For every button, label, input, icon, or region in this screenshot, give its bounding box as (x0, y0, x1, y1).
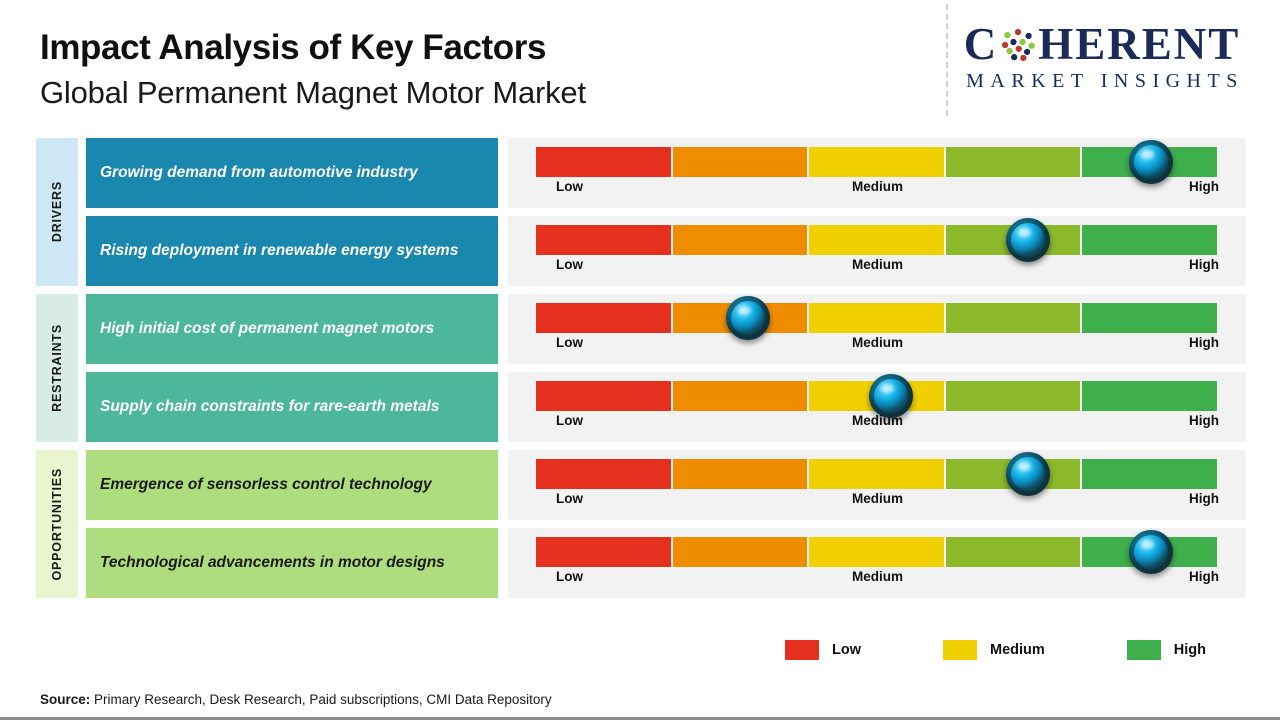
scale-label-medium: Medium (852, 569, 903, 584)
table-row: Growing demand from automotive industry (78, 138, 1280, 208)
category-label-restraints: RESTRAINTS (36, 294, 78, 442)
group-rows-restraints: High initial cost of permanent magnet mo… (78, 294, 1280, 442)
gauge-segment-low (536, 459, 673, 489)
factor-label: Supply chain constraints for rare-earth … (100, 397, 439, 418)
slide-header: Impact Analysis of Key Factors Global Pe… (0, 0, 1280, 132)
gauge-bar (536, 303, 1219, 333)
impact-analysis-slide: Impact Analysis of Key Factors Global Pe… (0, 0, 1280, 720)
gauge-segment-medium (809, 303, 946, 333)
gauge-segment-low (536, 147, 673, 177)
group-rows-opportunities: Emergence of sensorless control technolo… (78, 450, 1280, 598)
legend-label-high: High (1174, 642, 1206, 658)
gauge-segment-medium (809, 537, 946, 567)
gauge-bar (536, 147, 1219, 177)
group-restraints: RESTRAINTS High initial cost of permanen… (0, 294, 1280, 442)
gauge-bar (536, 225, 1219, 255)
page-title: Impact Analysis of Key Factors (40, 28, 586, 68)
scale-label-medium: Medium (852, 413, 903, 428)
factor-box[interactable]: Growing demand from automotive industry (86, 138, 498, 208)
factor-box[interactable]: Rising deployment in renewable energy sy… (86, 216, 498, 286)
impact-matrix: DRIVERS Growing demand from automotive i… (0, 138, 1280, 606)
scale-label-high: High (1189, 335, 1219, 350)
scale-label-high: High (1189, 569, 1219, 584)
gauge-scale: Low Medium High (536, 177, 1219, 199)
gauge-bar (536, 459, 1219, 489)
category-label-drivers: DRIVERS (36, 138, 78, 286)
legend-swatch-medium (943, 640, 977, 660)
factor-label: High initial cost of permanent magnet mo… (100, 319, 434, 340)
scale-label-medium: Medium (852, 179, 903, 194)
scale-label-low: Low (556, 335, 583, 350)
factor-box[interactable]: Technological advancements in motor desi… (86, 528, 498, 598)
table-row: Rising deployment in renewable energy sy… (78, 216, 1280, 286)
factor-label: Growing demand from automotive industry (100, 163, 418, 184)
scale-label-high: High (1189, 257, 1219, 272)
gauge-segment-high (1082, 459, 1219, 489)
impact-gauge[interactable]: Low Medium High (508, 528, 1246, 598)
legend-item-high: High (1127, 640, 1206, 660)
scale-label-low: Low (556, 413, 583, 428)
logo-wordmark-rest: HERENT (1038, 22, 1240, 67)
table-row: High initial cost of permanent magnet mo… (78, 294, 1280, 364)
legend-item-medium: Medium (943, 640, 1045, 660)
impact-gauge[interactable]: Low Medium High (508, 138, 1246, 208)
chart-legend: Low Medium High (0, 640, 1280, 660)
logo-wordmark: C HERENT (942, 22, 1262, 67)
scale-label-low: Low (556, 569, 583, 584)
gauge-segment-low-medium (673, 225, 810, 255)
gauge-segment-low-medium (673, 381, 810, 411)
factor-label: Technological advancements in motor desi… (100, 553, 445, 574)
gauge-segment-low (536, 381, 673, 411)
table-row: Supply chain constraints for rare-earth … (78, 372, 1280, 442)
group-drivers: DRIVERS Growing demand from automotive i… (0, 138, 1280, 286)
impact-gauge[interactable]: Low Medium High (508, 372, 1246, 442)
table-row: Emergence of sensorless control technolo… (78, 450, 1280, 520)
page-subtitle: Global Permanent Magnet Motor Market (40, 74, 586, 111)
category-label-text: RESTRAINTS (50, 324, 64, 412)
gauge-segment-high (1082, 303, 1219, 333)
gauge-segment-medium (809, 225, 946, 255)
gauge-scale: Low Medium High (536, 567, 1219, 589)
scale-label-high: High (1189, 413, 1219, 428)
group-opportunities: OPPORTUNITIES Emergence of sensorless co… (0, 450, 1280, 598)
coherent-market-insights-logo: C HERENT MARKET INSIGHTS (942, 22, 1262, 91)
gauge-bar (536, 537, 1219, 567)
factor-box[interactable]: Supply chain constraints for rare-earth … (86, 372, 498, 442)
gauge-segment-medium (809, 459, 946, 489)
impact-gauge[interactable]: Low Medium High (508, 294, 1246, 364)
globe-dots-icon (999, 26, 1037, 64)
scale-label-high: High (1189, 491, 1219, 506)
table-row: Technological advancements in motor desi… (78, 528, 1280, 598)
legend-swatch-low (785, 640, 819, 660)
impact-gauge[interactable]: Low Medium High (508, 216, 1246, 286)
logo-letter-c: C (964, 22, 999, 67)
factor-label: Rising deployment in renewable energy sy… (100, 241, 458, 262)
legend-item-low: Low (785, 640, 861, 660)
group-rows-drivers: Growing demand from automotive industry (78, 138, 1280, 286)
gauge-scale: Low Medium High (536, 255, 1219, 277)
impact-gauge[interactable]: Low Medium High (508, 450, 1246, 520)
gauge-segment-medium-high (946, 537, 1083, 567)
scale-label-medium: Medium (852, 257, 903, 272)
gauge-segment-low-medium (673, 147, 810, 177)
gauge-segment-high (1082, 225, 1219, 255)
category-label-text: DRIVERS (50, 181, 64, 242)
gauge-scale: Low Medium High (536, 411, 1219, 433)
logo-tagline: MARKET INSIGHTS (942, 71, 1262, 91)
category-label-text: OPPORTUNITIES (50, 468, 64, 581)
scale-label-medium: Medium (852, 491, 903, 506)
gauge-scale: Low Medium High (536, 489, 1219, 511)
legend-swatch-high (1127, 640, 1161, 660)
gauge-segment-medium-high (946, 147, 1083, 177)
scale-label-low: Low (556, 491, 583, 506)
gauge-bar (536, 381, 1219, 411)
scale-label-high: High (1189, 179, 1219, 194)
source-note: Source: Primary Research, Desk Research,… (40, 692, 552, 707)
gauge-segment-medium-high (946, 381, 1083, 411)
gauge-segment-low-medium (673, 459, 810, 489)
factor-box[interactable]: Emergence of sensorless control technolo… (86, 450, 498, 520)
scale-label-low: Low (556, 179, 583, 194)
gauge-scale: Low Medium High (536, 333, 1219, 355)
title-block: Impact Analysis of Key Factors Global Pe… (40, 28, 586, 111)
gauge-segment-medium (809, 147, 946, 177)
legend-label-low: Low (832, 642, 861, 658)
gauge-segment-low (536, 537, 673, 567)
factor-label: Emergence of sensorless control technolo… (100, 475, 432, 496)
gauge-segment-low (536, 303, 673, 333)
source-text: Primary Research, Desk Research, Paid su… (90, 692, 551, 707)
gauge-segment-low (536, 225, 673, 255)
factor-box[interactable]: High initial cost of permanent magnet mo… (86, 294, 498, 364)
legend-label-medium: Medium (990, 642, 1045, 658)
scale-label-low: Low (556, 257, 583, 272)
gauge-segment-medium-high (946, 303, 1083, 333)
source-prefix: Source: (40, 692, 90, 707)
scale-label-medium: Medium (852, 335, 903, 350)
category-label-opportunities: OPPORTUNITIES (36, 450, 78, 598)
gauge-segment-low-medium (673, 537, 810, 567)
gauge-segment-high (1082, 381, 1219, 411)
